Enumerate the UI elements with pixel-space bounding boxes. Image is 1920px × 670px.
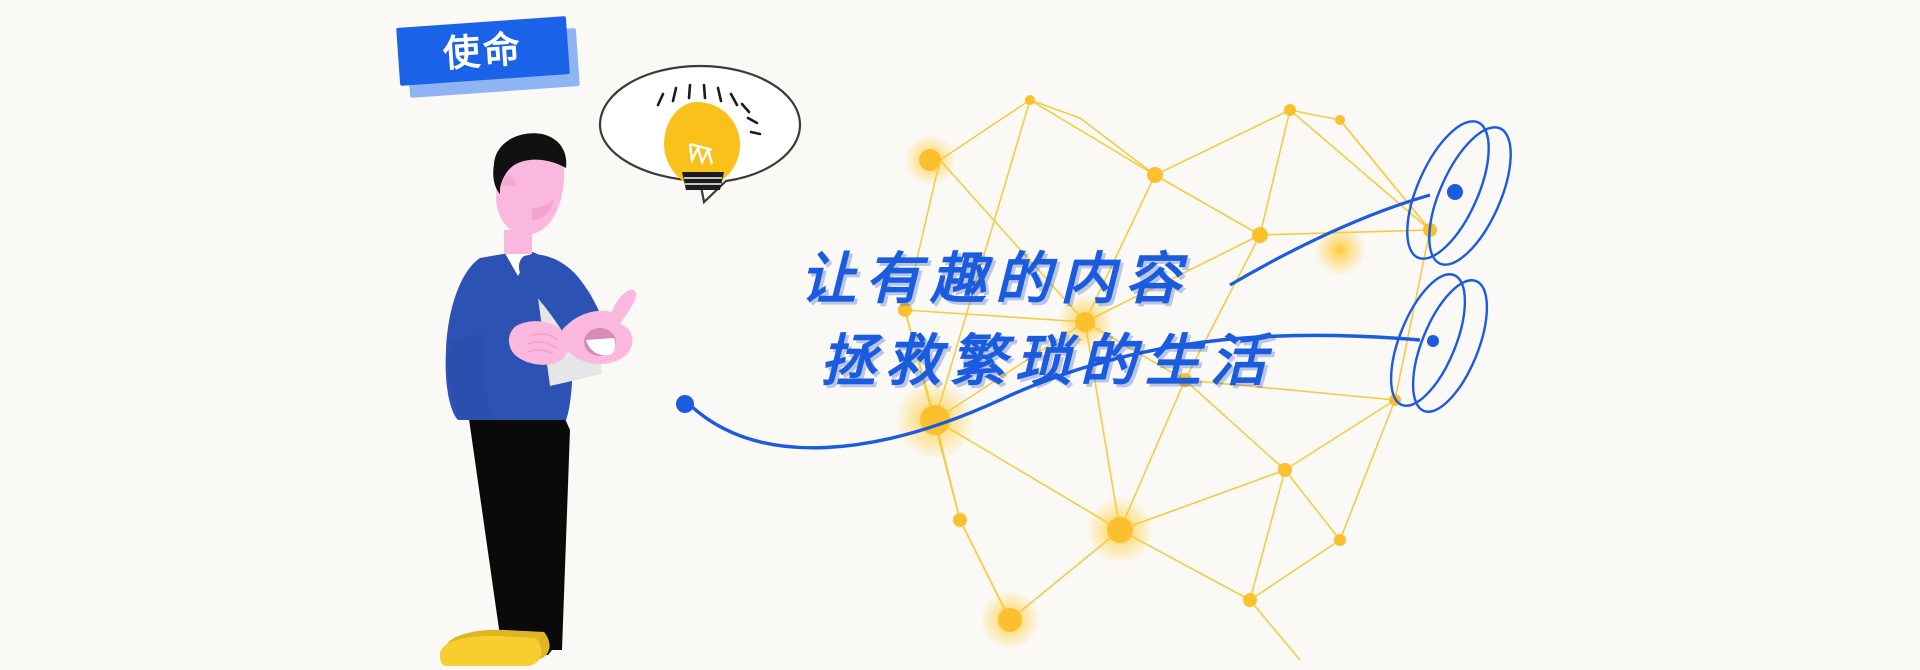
mission-banner: 使命 [0,0,1920,670]
headline-block: 让有趣的内容 拯救繁琐的生活 [800,238,1540,402]
headline-line-2: 拯救繁琐的生活 [820,320,1540,402]
lightbulb-base [682,172,724,190]
headline-line-1: 让有趣的内容 [800,238,1540,320]
